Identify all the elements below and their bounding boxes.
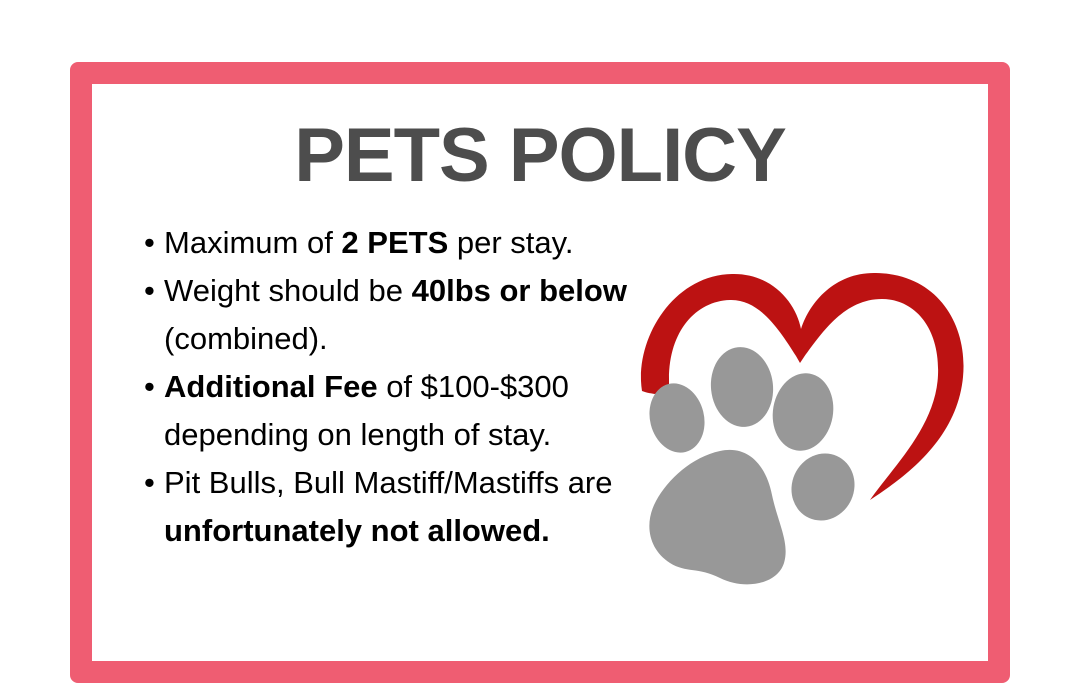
plain-text: Maximum of — [164, 225, 341, 260]
emphasis-text: unfortunately not allowed. — [164, 513, 550, 548]
paw-toe-inner-left — [707, 344, 777, 430]
list-item-text: Additional Fee of $100-$300 depending on… — [164, 369, 569, 452]
emphasis-text: Additional Fee — [164, 369, 378, 404]
policy-list: •Maximum of 2 PETS per stay.•Weight shou… — [140, 219, 660, 555]
paw-toe-inner-right — [767, 368, 840, 455]
plain-text: Pit Bulls, Bull Mastiff/Mastiffs are — [164, 465, 613, 500]
plain-text: per stay. — [448, 225, 573, 260]
bullet-marker-icon: • — [144, 267, 155, 315]
bullet-marker-icon: • — [144, 363, 155, 411]
list-item-text: Maximum of 2 PETS per stay. — [164, 225, 573, 260]
list-item-text: Weight should be 40lbs or below (combine… — [164, 273, 627, 356]
list-item: •Pit Bulls, Bull Mastiff/Mastiffs are un… — [140, 459, 660, 555]
list-item: •Maximum of 2 PETS per stay. — [140, 219, 660, 267]
page-title: PETS POLICY — [0, 118, 1080, 194]
paw-toe-outer-right — [781, 443, 865, 530]
bullet-marker-icon: • — [144, 459, 155, 507]
heart-paw-logo — [620, 255, 980, 585]
plain-text: Weight should be — [164, 273, 412, 308]
list-item: •Additional Fee of $100-$300 depending o… — [140, 363, 660, 459]
list-item-text: Pit Bulls, Bull Mastiff/Mastiffs are unf… — [164, 465, 613, 548]
pets-policy-poster: PETS POLICY •Maximum of 2 PETS per stay.… — [0, 0, 1080, 700]
emphasis-text: 2 PETS — [341, 225, 448, 260]
bullet-marker-icon: • — [144, 219, 155, 267]
emphasis-text: 40lbs or below — [412, 273, 627, 308]
paw-pad — [649, 450, 785, 584]
plain-text: (combined). — [164, 321, 328, 356]
list-item: •Weight should be 40lbs or below (combin… — [140, 267, 660, 363]
